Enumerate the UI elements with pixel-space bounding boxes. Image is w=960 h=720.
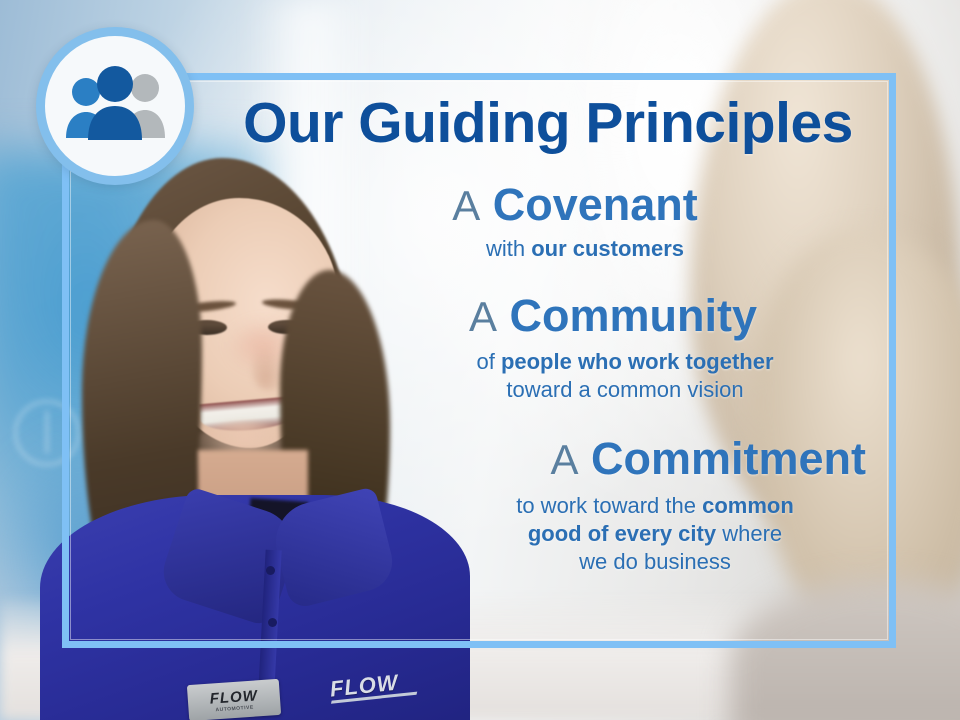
principle-subtext: of people who work togethertoward a comm… [300, 348, 890, 404]
principle-article: A [550, 436, 578, 483]
name-badge-subtext: AUTOMOTIVE [215, 704, 254, 713]
principles-list: A Covenant with our customers A Communit… [300, 180, 890, 580]
principle-covenant: A Covenant with our customers [300, 180, 890, 263]
principle-heading: A Covenant [300, 180, 890, 230]
principle-subtext: to work toward the commongood of every c… [300, 492, 890, 576]
principle-article: A [452, 182, 480, 229]
principle-keyword: Covenant [493, 179, 698, 230]
principle-community: A Community of people who work togethert… [300, 291, 890, 405]
principle-subtext: with our customers [300, 235, 890, 263]
page-title: Our Guiding Principles [218, 95, 878, 152]
principle-keyword: Commitment [591, 433, 866, 484]
people-group-badge [36, 27, 194, 185]
principle-article: A [469, 293, 497, 340]
guiding-principles-graphic: FLOW FLOW AUTOMOTIVE Our Guiding Princip… [0, 0, 960, 720]
principle-heading: A Community [300, 291, 890, 341]
people-group-icon [63, 66, 167, 146]
principle-commitment: A Commitment to work toward the commongo… [300, 434, 890, 576]
principle-keyword: Community [510, 290, 758, 341]
principle-heading: A Commitment [300, 434, 890, 484]
employee-name-badge: FLOW AUTOMOTIVE [187, 679, 281, 720]
